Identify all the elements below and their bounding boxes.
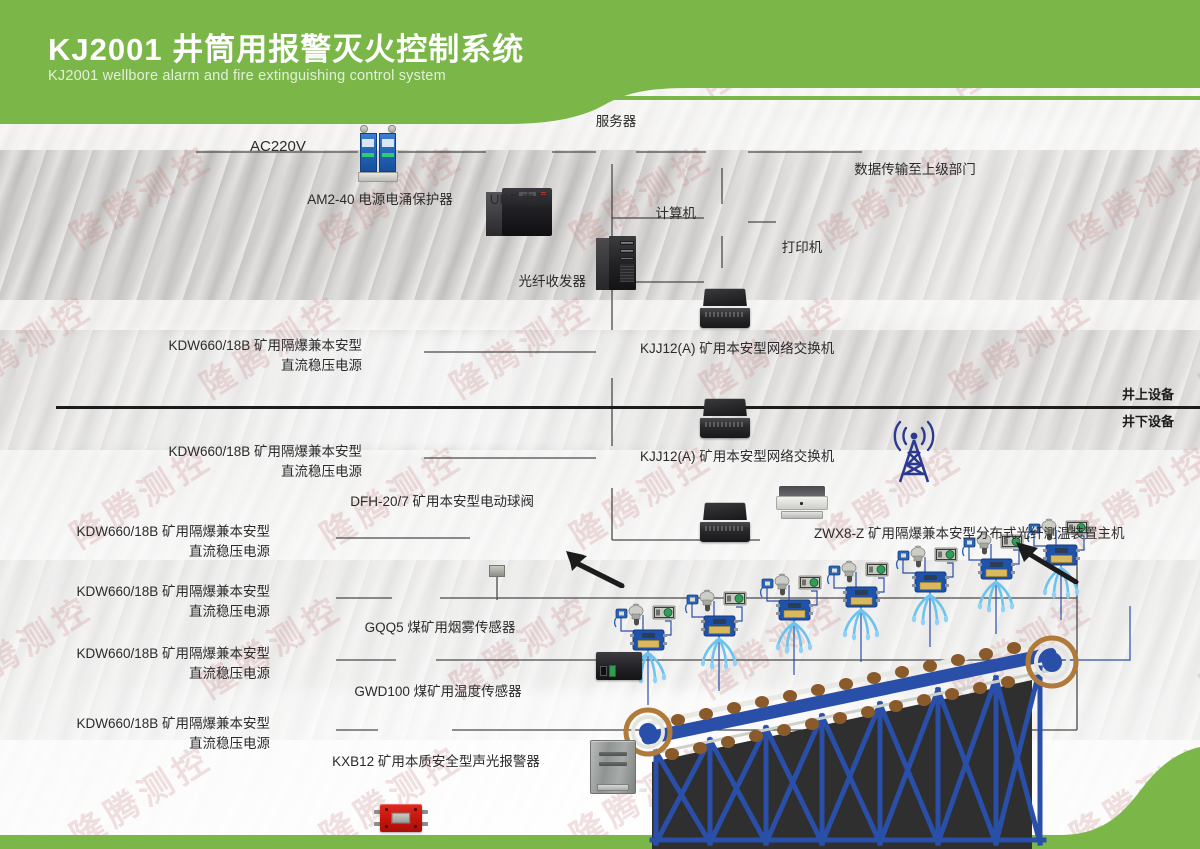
surge-protector-device bbox=[358, 124, 398, 182]
ups-label: UPS 电源 bbox=[460, 190, 578, 210]
station-control-box bbox=[630, 630, 667, 650]
power-supply-label-4: KDW660/18B 矿用隔爆兼本安型 直流稳压电源 bbox=[68, 714, 270, 755]
page-subtitle: KJ2001 wellbore alarm and fire extinguis… bbox=[48, 68, 446, 84]
surge-protector-label: AM2-40 电源电涌保护器 bbox=[305, 190, 455, 210]
station-alarm-unit bbox=[799, 576, 821, 589]
station-control-box bbox=[843, 587, 880, 607]
smoke-sensor-label: GQQ5 煤矿用烟雾传感器 bbox=[340, 618, 540, 638]
ball-valve-label: DFH-20/7 矿用本安型电动球阀 bbox=[278, 492, 534, 512]
computer-label: 计算机 bbox=[600, 204, 696, 224]
pointer-arrow-right bbox=[1010, 540, 1082, 584]
ball-valve-stem bbox=[489, 565, 505, 577]
temperature-sensor-label: GWD100 煤矿用温度传感器 bbox=[330, 682, 546, 702]
power-supply-surface-label-line2: 直流稳压电源 bbox=[281, 358, 362, 373]
station-control-box bbox=[776, 600, 813, 620]
antenna-icon bbox=[886, 414, 942, 484]
power-supply-label-3-line1: KDW660/18B 矿用隔爆兼本安型 bbox=[76, 646, 270, 661]
power-supply-label-0: KDW660/18B 矿用隔爆兼本安型 直流稳压电源 bbox=[160, 442, 362, 483]
power-supply-label-0-line1: KDW660/18B 矿用隔爆兼本安型 bbox=[168, 444, 362, 459]
divider-label-surface: 井上设备 bbox=[1122, 386, 1174, 405]
network-switch-surface-device bbox=[590, 740, 636, 794]
power-supply-surface-label-line1: KDW660/18B 矿用隔爆兼本安型 bbox=[168, 338, 362, 353]
printer-label: 打印机 bbox=[752, 238, 852, 258]
station-smoke-sensor bbox=[842, 561, 856, 582]
station-alarm-unit bbox=[866, 563, 888, 576]
divider-label-underground: 井下设备 bbox=[1122, 413, 1174, 432]
sprinkler-station-graphic bbox=[822, 558, 900, 666]
antenna-tower-device bbox=[886, 414, 942, 484]
station-smoke-sensor bbox=[629, 604, 643, 625]
power-supply-label-4-line2: 直流稳压电源 bbox=[189, 736, 270, 751]
fiber-converter-label: 光纤收发器 bbox=[474, 272, 586, 292]
station-smoke-sensor bbox=[775, 574, 789, 595]
printer-device bbox=[776, 486, 828, 520]
ac-input-label: AC220V bbox=[250, 136, 306, 158]
station-alarm-unit bbox=[724, 592, 746, 605]
network-switch-surface-label: KJJ12(A) 矿用本安型网络交换机 bbox=[640, 339, 834, 359]
power-supply-label-1-line1: KDW660/18B 矿用隔爆兼本安型 bbox=[76, 524, 270, 539]
power-supply-label-3-line2: 直流稳压电源 bbox=[189, 666, 270, 681]
computer-device-2 bbox=[700, 398, 750, 438]
page-title: KJ2001 井筒用报警灭火控制系统 bbox=[48, 24, 524, 69]
uplink-label: 数据传输至上级部门 bbox=[842, 160, 988, 180]
fiber-converter-device bbox=[596, 652, 642, 680]
belt-head-pulley bbox=[1028, 638, 1076, 686]
station-alarm-unit bbox=[653, 606, 675, 619]
power-supply-label-0-line2: 直流稳压电源 bbox=[281, 464, 362, 479]
sprinkler-station bbox=[680, 587, 758, 695]
power-supply-label-3: KDW660/18B 矿用隔爆兼本安型 直流稳压电源 bbox=[68, 644, 270, 685]
power-supply-label-2-line2: 直流稳压电源 bbox=[189, 604, 270, 619]
pointer-arrow-left bbox=[560, 548, 626, 588]
power-supply-surface-label: KDW660/18B 矿用隔爆兼本安型 直流稳压电源 bbox=[160, 336, 362, 377]
sprinkler-station-graphic bbox=[680, 587, 758, 695]
computer-device-3 bbox=[700, 502, 750, 542]
page-header: KJ2001 井筒用报警灭火控制系统 KJ2001 wellbore alarm… bbox=[0, 0, 1200, 130]
station-control-box bbox=[701, 616, 738, 636]
station-smoke-sensor bbox=[911, 546, 925, 567]
network-switch-underground-label: KJJ12(A) 矿用本安型网络交换机 bbox=[640, 447, 834, 467]
section-divider-line bbox=[56, 406, 1200, 409]
audible-visual-alarm-label: KXB12 矿用本质安全型声光报警器 bbox=[310, 752, 562, 772]
station-alarm-unit bbox=[935, 548, 957, 561]
power-supply-label-2: KDW660/18B 矿用隔爆兼本安型 直流稳压电源 bbox=[68, 582, 270, 623]
sprinkler-station bbox=[822, 558, 900, 666]
power-supply-label-4-line1: KDW660/18B 矿用隔爆兼本安型 bbox=[76, 716, 270, 731]
computer-device-1 bbox=[700, 288, 750, 328]
power-supply-label-2-line1: KDW660/18B 矿用隔爆兼本安型 bbox=[76, 584, 270, 599]
power-supply-surface-device bbox=[374, 802, 428, 834]
station-control-box bbox=[912, 572, 949, 592]
server-device bbox=[596, 236, 636, 290]
power-supply-label-1: KDW660/18B 矿用隔爆兼本安型 直流稳压电源 bbox=[68, 522, 270, 563]
diagram-canvas: 隆腾测控隆腾测控隆腾测控隆腾测控隆腾测控隆腾测控隆腾测控隆腾测控隆腾测控隆腾测控… bbox=[0, 0, 1200, 849]
power-supply-label-1-line2: 直流稳压电源 bbox=[189, 544, 270, 559]
server-label: 服务器 bbox=[566, 112, 666, 132]
station-smoke-sensor bbox=[700, 590, 714, 611]
